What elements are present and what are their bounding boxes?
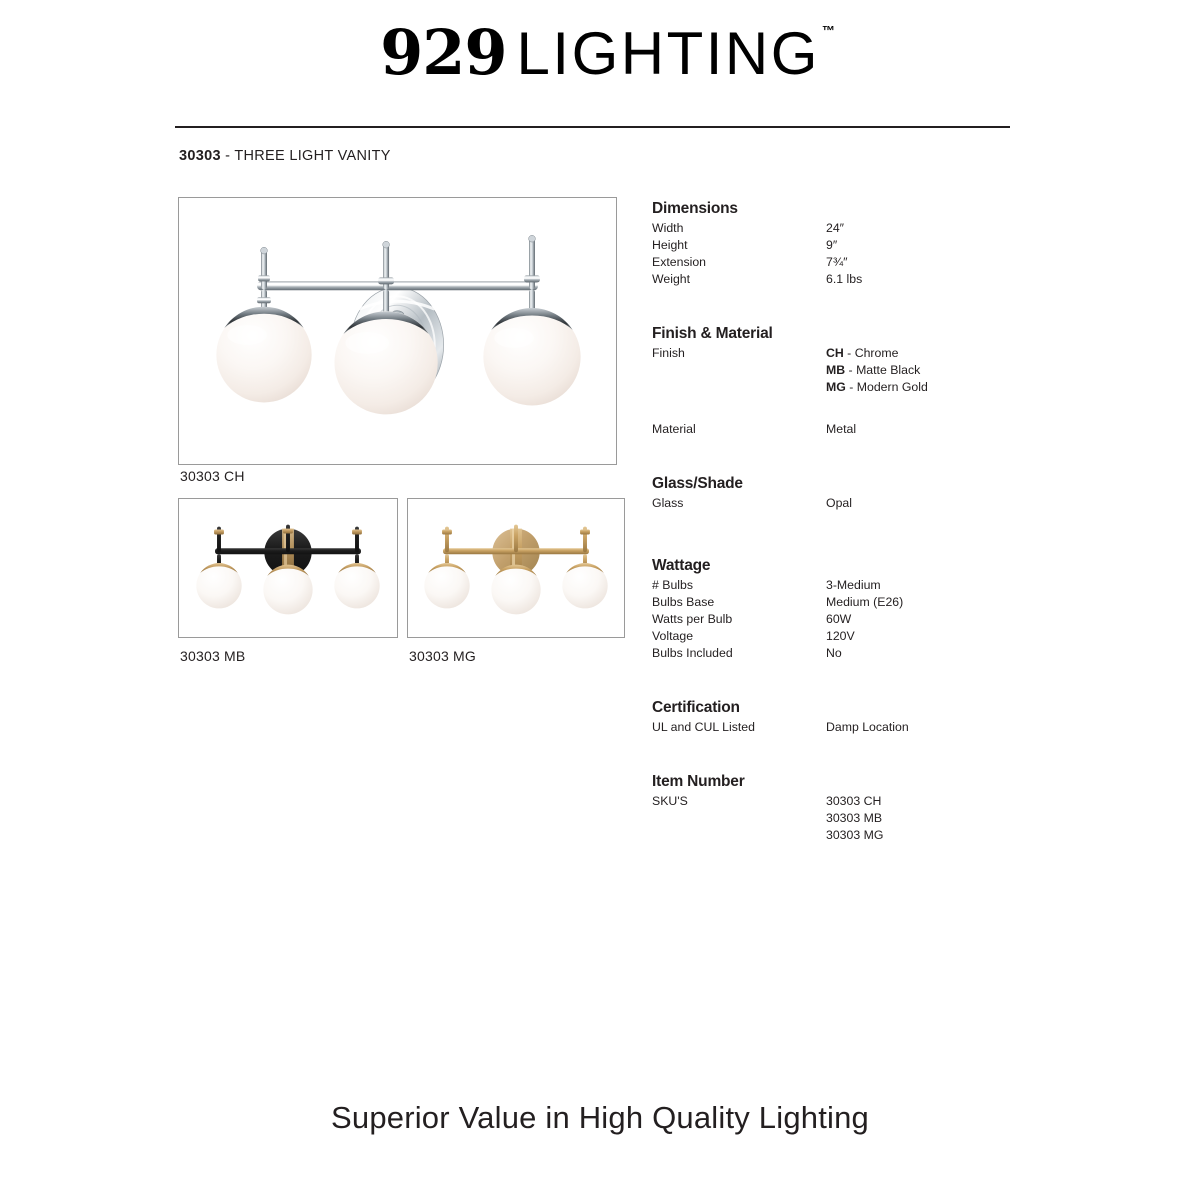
spec-value-width: 24″ xyxy=(826,220,844,237)
globe-right xyxy=(483,308,580,405)
globe-right xyxy=(334,563,379,608)
finish-code-mb: MB xyxy=(826,363,845,377)
header-divider xyxy=(175,126,1010,128)
finish-name-mg: Modern Gold xyxy=(857,380,928,394)
spec-row-finish-ch: Finish CH - Chrome xyxy=(652,345,1052,362)
spec-row-voltage: Voltage 120V xyxy=(652,628,1052,645)
spec-value-glass: Opal xyxy=(826,495,852,512)
spec-row-bulbs-included: Bulbs Included No xyxy=(652,645,1052,662)
spec-section-finish-material: Finish & Material Finish CH - Chrome MB … xyxy=(652,325,1052,438)
spec-label-extension: Extension xyxy=(652,254,706,271)
globe-center xyxy=(263,565,312,615)
fixture-illustration-modern-gold xyxy=(408,499,624,637)
logo-wordmark-number: 929 xyxy=(380,16,506,89)
finish-name-ch: Chrome xyxy=(855,346,899,360)
brand-logo: 929LIGHTING™ xyxy=(0,22,1200,84)
spec-section-wattage: Wattage # Bulbs 3-Medium Bulbs Base Medi… xyxy=(652,557,1052,662)
product-name: THREE LIGHT VANITY xyxy=(234,148,390,164)
finish-code-mg: MG xyxy=(826,380,846,394)
spec-section-glass-shade: Glass/Shade Glass Opal xyxy=(652,475,1052,512)
spec-value-height: 9″ xyxy=(826,237,837,254)
fixture-illustration-chrome xyxy=(179,198,616,464)
spec-label-skus: SKU'S xyxy=(652,793,688,810)
globe-left xyxy=(424,563,469,608)
spec-value-extension: 7¾″ xyxy=(826,254,847,271)
spec-row-sku-mg: 30303 MG xyxy=(652,827,1052,844)
spec-label-width: Width xyxy=(652,220,683,237)
spec-value-ul-cul: Damp Location xyxy=(826,719,909,736)
spec-label-bulbs-included: Bulbs Included xyxy=(652,645,733,662)
spacer xyxy=(652,532,1052,557)
product-title: 30303 - THREE LIGHT VANITY xyxy=(179,148,391,164)
footer-tagline: Superior Value in High Quality Lighting xyxy=(0,1100,1200,1136)
spec-section-dimensions: Dimensions Width 24″ Height 9″ Extension… xyxy=(652,200,1052,288)
spec-section-item-number: Item Number SKU'S 30303 CH 30303 MB 3030… xyxy=(652,773,1052,844)
globe-left xyxy=(216,307,311,403)
spacer xyxy=(652,682,1052,699)
spec-row-sku-mb: 30303 MB xyxy=(652,810,1052,827)
spec-label-glass: Glass xyxy=(652,495,683,512)
spacer xyxy=(652,756,1052,773)
caption-modern-gold: 30303 MG xyxy=(409,648,476,664)
finish-name-mb: Matte Black xyxy=(856,363,920,377)
spec-label-weight: Weight xyxy=(652,271,690,288)
trademark-symbol: ™ xyxy=(822,24,835,37)
spec-row-watts-per-bulb: Watts per Bulb 60W xyxy=(652,611,1052,628)
globe-left xyxy=(196,563,241,608)
spec-label-height: Height xyxy=(652,237,688,254)
caption-chrome: 30303 CH xyxy=(180,468,245,484)
spec-label-finish: Finish xyxy=(652,345,685,362)
spec-row-weight: Weight 6.1 lbs xyxy=(652,271,1052,288)
spec-value-num-bulbs: 3-Medium xyxy=(826,577,881,594)
product-sku: 30303 xyxy=(179,148,221,164)
spec-label-ul-cul: UL and CUL Listed xyxy=(652,719,755,736)
spec-label-bulbs-base: Bulbs Base xyxy=(652,594,714,611)
logo-wordmark-text: LIGHTING xyxy=(517,20,820,87)
product-image-modern-gold xyxy=(407,498,625,638)
spec-value-material: Metal xyxy=(826,421,856,438)
spec-heading-item-number: Item Number xyxy=(652,773,1052,791)
spec-row-width: Width 24″ xyxy=(652,220,1052,237)
spec-heading-glass-shade: Glass/Shade xyxy=(652,475,1052,493)
spec-value-voltage: 120V xyxy=(826,628,855,645)
globe-center xyxy=(334,311,437,414)
product-separator: - xyxy=(221,148,235,164)
spec-value-watts-per-bulb: 60W xyxy=(826,611,851,628)
spec-value-finish-ch: CH - Chrome xyxy=(826,345,898,362)
spec-value-weight: 6.1 lbs xyxy=(826,271,862,288)
spec-section-certification: Certification UL and CUL Listed Damp Loc… xyxy=(652,699,1052,736)
product-image-chrome xyxy=(178,197,617,465)
spacer xyxy=(652,396,1052,421)
spec-value-finish-mg: MG - Modern Gold xyxy=(826,379,928,396)
spec-value-sku-mg: 30303 MG xyxy=(826,827,883,844)
spec-row-height: Height 9″ xyxy=(652,237,1052,254)
globe-center xyxy=(491,565,540,615)
spec-value-sku-ch: 30303 CH xyxy=(826,793,881,810)
fixture-illustration-matte-black xyxy=(179,499,397,637)
finish-code-ch: CH xyxy=(826,346,844,360)
spec-heading-finish-material: Finish & Material xyxy=(652,325,1052,343)
spec-heading-certification: Certification xyxy=(652,699,1052,717)
spec-value-bulbs-included: No xyxy=(826,645,842,662)
spec-label-voltage: Voltage xyxy=(652,628,693,645)
specifications-panel: Dimensions Width 24″ Height 9″ Extension… xyxy=(652,200,1052,864)
spec-value-finish-mb: MB - Matte Black xyxy=(826,362,920,379)
spacer xyxy=(652,458,1052,475)
spec-row-sku-ch: SKU'S 30303 CH xyxy=(652,793,1052,810)
spec-value-bulbs-base: Medium (E26) xyxy=(826,594,903,611)
spec-row-material: Material Metal xyxy=(652,421,1052,438)
spec-row-finish-mg: MG - Modern Gold xyxy=(652,379,1052,396)
globe-right xyxy=(562,563,607,608)
spec-row-finish-mb: MB - Matte Black xyxy=(652,362,1052,379)
spec-row-num-bulbs: # Bulbs 3-Medium xyxy=(652,577,1052,594)
spec-row-extension: Extension 7¾″ xyxy=(652,254,1052,271)
spec-heading-wattage: Wattage xyxy=(652,557,1052,575)
spec-heading-dimensions: Dimensions xyxy=(652,200,1052,218)
product-image-matte-black xyxy=(178,498,398,638)
spec-label-num-bulbs: # Bulbs xyxy=(652,577,693,594)
spec-label-material: Material xyxy=(652,421,696,438)
caption-matte-black: 30303 MB xyxy=(180,648,245,664)
spacer xyxy=(652,308,1052,325)
spec-value-sku-mb: 30303 MB xyxy=(826,810,882,827)
spec-row-glass: Glass Opal xyxy=(652,495,1052,512)
spec-label-watts-per-bulb: Watts per Bulb xyxy=(652,611,732,628)
spec-row-bulbs-base: Bulbs Base Medium (E26) xyxy=(652,594,1052,611)
spec-row-ul-cul: UL and CUL Listed Damp Location xyxy=(652,719,1052,736)
